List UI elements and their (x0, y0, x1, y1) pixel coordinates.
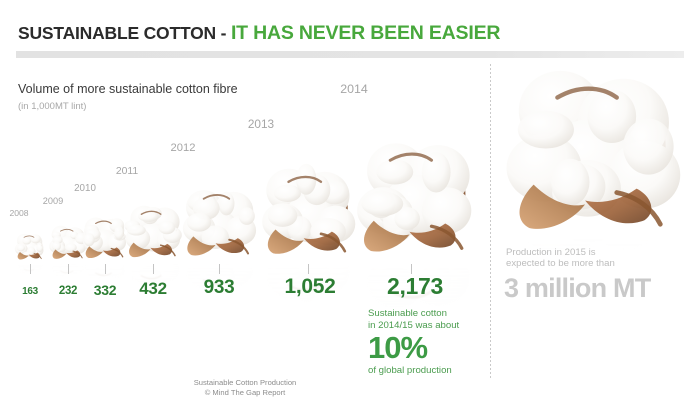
forecast-line-2: expected to be more than (506, 258, 615, 270)
axis-tick-2010 (105, 264, 106, 274)
footer-line-2: © Mind The Gap Report (0, 388, 490, 398)
share-callout: Sustainable cotton in 2014/15 was about … (368, 308, 486, 376)
value-label-2010: 332 (94, 282, 116, 298)
large-cotton-boll-illustration (498, 54, 688, 244)
value-label-2011: 432 (139, 279, 166, 299)
page-title: SUSTAINABLE COTTON - IT HAS NEVER BEEN E… (18, 22, 500, 45)
value-label-2014: 2,173 (387, 273, 443, 300)
year-label-2008: 2008 (0, 208, 42, 218)
year-label-2009: 2009 (30, 196, 76, 206)
callout-percent-value: 10% (368, 332, 486, 364)
axis-tick-2011 (153, 264, 154, 274)
year-label-2011: 2011 (104, 166, 150, 177)
year-label-2012: 2012 (160, 142, 206, 154)
cotton-boll-2014 (349, 130, 481, 262)
page-title-highlight: IT HAS NEVER BEEN EASIER (231, 22, 500, 44)
forecast-panel: Production in 2015 is expected to be mor… (490, 60, 700, 380)
value-label-2012: 933 (204, 277, 235, 299)
year-label-2014: 2014 (331, 82, 377, 96)
axis-tick-2008 (30, 264, 31, 274)
value-label-2008: 163 (22, 286, 38, 297)
value-label-2009: 232 (59, 285, 77, 297)
axis-tick-2012 (219, 264, 220, 274)
axis-tick-2013 (308, 264, 309, 274)
cotton-boll-2013 (256, 158, 360, 262)
footer-line-1: Sustainable Cotton Production (0, 378, 490, 388)
cotton-boll-2011 (122, 200, 184, 262)
forecast-value: 3 million MT (504, 273, 650, 304)
forecast-line-1: Production in 2015 is (506, 247, 596, 259)
year-label-2013: 2013 (238, 117, 284, 131)
cotton-boll-2008 (14, 230, 46, 262)
cotton-boll-2012 (178, 180, 260, 262)
infographic-root: SUSTAINABLE COTTON - IT HAS NEVER BEEN E… (0, 0, 700, 415)
value-label-2013: 1,052 (284, 275, 335, 299)
axis-tick-2009 (68, 264, 69, 274)
callout-line-1: Sustainable cotton (368, 308, 486, 320)
callout-line-3: of global production (368, 365, 486, 376)
year-label-2010: 2010 (62, 183, 108, 194)
page-title-prefix: SUSTAINABLE COTTON - (18, 23, 231, 43)
footer-credit: Sustainable Cotton Production © Mind The… (0, 378, 490, 397)
